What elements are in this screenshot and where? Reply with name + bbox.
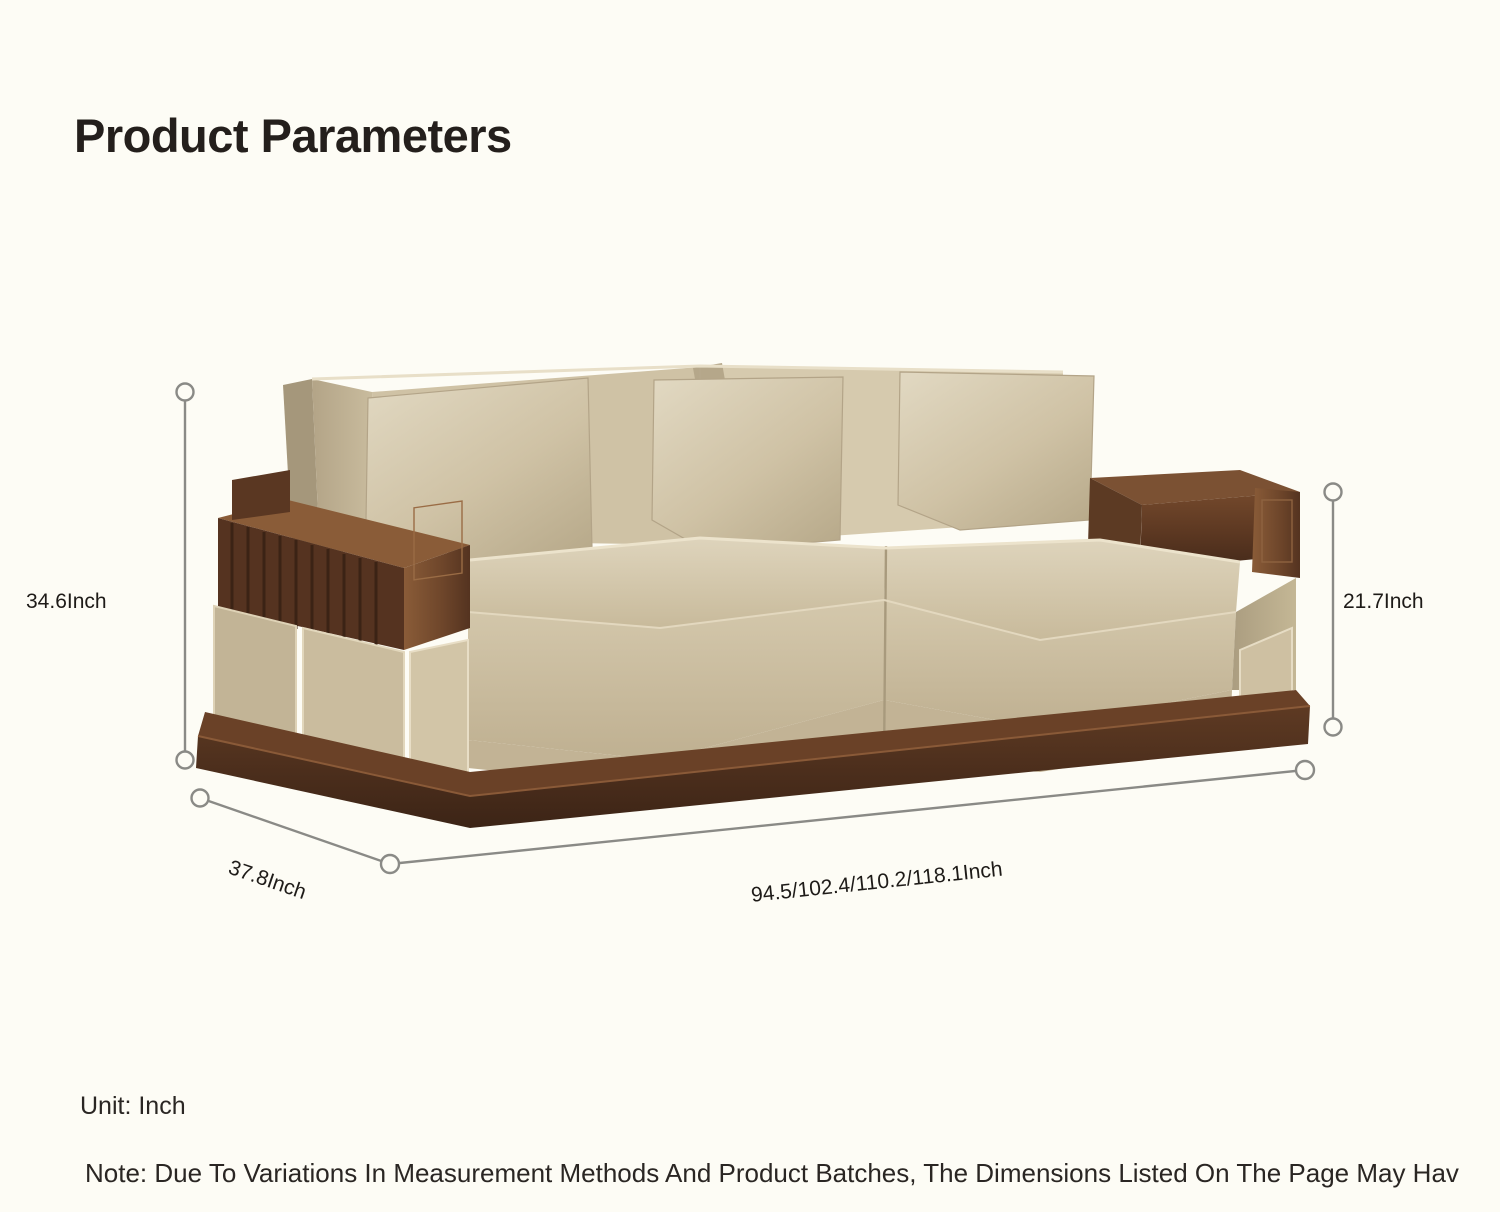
dimension-marker-seat-bottom (1325, 719, 1342, 736)
dimension-marker-height-bottom (177, 752, 194, 769)
dimension-label-seat-height: 21.7Inch (1343, 590, 1424, 614)
dimension-marker-height-top (177, 384, 194, 401)
dimension-annotations (0, 0, 1500, 1000)
dimension-marker-seat-top (1325, 484, 1342, 501)
dimension-label-height: 34.6Inch (26, 590, 107, 614)
dimension-line-seat-height (1325, 484, 1342, 736)
dimension-marker-depth-end (381, 855, 399, 873)
disclaimer-note: Note: Due To Variations In Measurement M… (85, 1158, 1459, 1189)
dimension-marker-depth-start (192, 790, 209, 807)
unit-note: Unit: Inch (80, 1092, 186, 1121)
dimension-line-height (177, 384, 194, 769)
dimension-line-width (381, 761, 1314, 873)
product-parameters-page: Product Parameters (0, 0, 1500, 1212)
dimension-marker-width-end (1296, 761, 1314, 779)
dimension-line-depth (192, 790, 391, 865)
product-dimension-diagram: 34.6Inch 21.7Inch 37.8Inch 94.5/102.4/11… (0, 0, 1500, 1000)
